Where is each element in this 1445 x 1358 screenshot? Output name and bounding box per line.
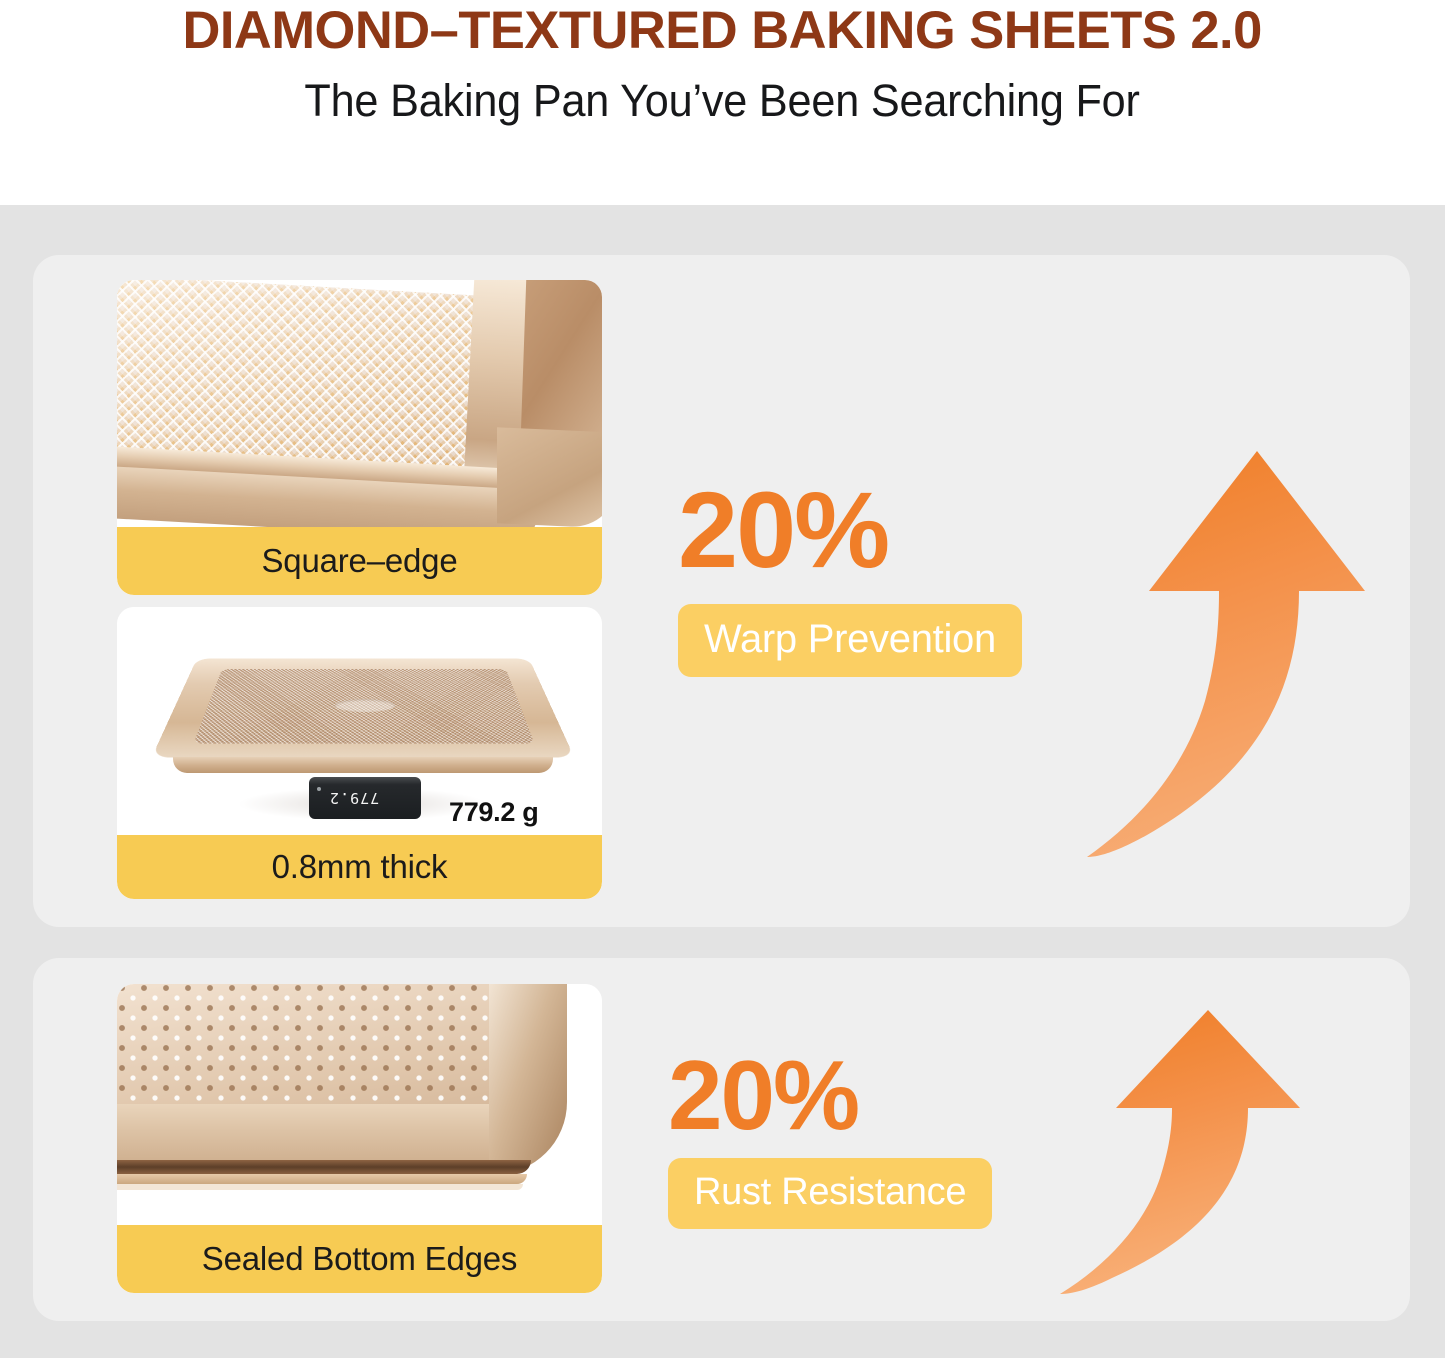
stat-value: 20%	[668, 1046, 858, 1144]
page-subtitle: The Baking Pan You’ve Been Searching For	[305, 75, 1140, 127]
photo-square-edge-pan	[117, 280, 602, 527]
photo-tile-square-edge: Square–edge	[117, 280, 602, 595]
page-header: DIAMOND–TEXTURED BAKING SHEETS 2.0 The B…	[0, 0, 1445, 205]
scale-display-reading: 779.2	[329, 789, 379, 807]
page-title: DIAMOND–TEXTURED BAKING SHEETS 2.0	[183, 2, 1262, 59]
stat-block-rust-resistance: 20% Rust Resistance	[668, 1046, 992, 1229]
curved-up-arrow-icon	[1060, 1004, 1304, 1296]
weight-value-label: 779.2 g	[449, 797, 538, 828]
photo-tile-thickness: 779.2 779.2 g 0.8mm thick	[117, 607, 602, 899]
photo-caption-text: 0.8mm thick	[272, 848, 448, 886]
photo-caption-text: Square–edge	[262, 542, 458, 580]
curved-up-arrow-icon	[1087, 443, 1371, 863]
photo-caption-banner-thickness: 0.8mm thick	[117, 835, 602, 899]
photo-caption-text: Sealed Bottom Edges	[202, 1240, 517, 1278]
feature-card-warp-prevention: Square–edge 779.2	[33, 255, 1410, 927]
stat-value: 20%	[678, 476, 888, 584]
photo-tile-sealed-edges: Sealed Bottom Edges	[117, 984, 602, 1293]
stat-block-warp-prevention: 20% Warp Prevention	[678, 476, 1022, 677]
photo-caption-banner-sealed-edges: Sealed Bottom Edges	[117, 1225, 602, 1293]
stat-label-pill: Rust Resistance	[668, 1158, 992, 1229]
stat-label-pill: Warp Prevention	[678, 604, 1022, 677]
feature-card-rust-resistance: Sealed Bottom Edges 20% Rust Resistance	[33, 958, 1410, 1321]
photo-caption-banner-square-edge: Square–edge	[117, 527, 602, 595]
infographic-page: DIAMOND–TEXTURED BAKING SHEETS 2.0 The B…	[0, 0, 1445, 1358]
photo-sealed-bottom-edge	[117, 984, 602, 1225]
